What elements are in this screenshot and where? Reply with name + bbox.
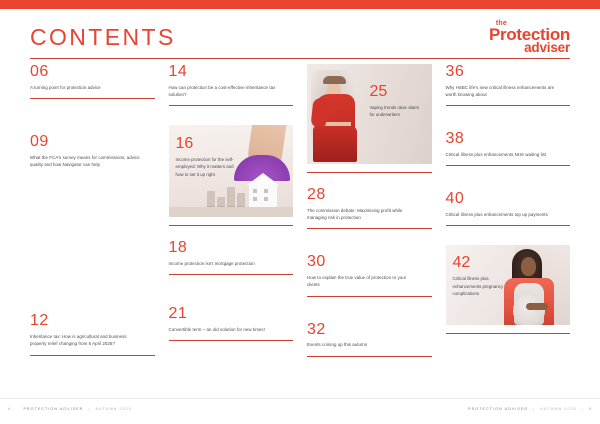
entry-divider — [446, 225, 571, 226]
entry-page-number: 38 — [446, 131, 571, 148]
entry-description: What the FCA's survey means for commissi… — [30, 154, 142, 169]
contents-entry-18[interactable]: 18 Income protection isn't mortgage prot… — [169, 240, 294, 280]
footer-right: PROTECTION ADVISER | AUTUMN 2025 | 5 — [468, 407, 592, 411]
column-spacer — [446, 231, 571, 245]
column-spacer — [446, 325, 571, 333]
contents-column-2: 14 How can protection be a cost-effectiv… — [169, 64, 294, 384]
contents-entry-06[interactable]: 06 A turning point for protection advice — [30, 64, 155, 104]
column-gap — [30, 193, 155, 313]
entry-page-number: 32 — [307, 322, 432, 339]
entry-description: Critical illness plus enhancements top u… — [446, 211, 558, 218]
column-spacer — [30, 173, 155, 193]
entry-description: Critical illness plus enhancements pregn… — [453, 275, 505, 297]
entry-divider — [446, 105, 571, 106]
column-spacer — [307, 234, 432, 254]
entry-page-number: 21 — [169, 306, 294, 323]
contents-entry-32[interactable]: 32 Events coming up this autumn — [307, 322, 432, 362]
column-spacer — [307, 302, 432, 322]
contents-entry-30[interactable]: 30 How to explain the true value of prot… — [307, 254, 432, 301]
contents-column-3: 25 Vaping trends raise alarm for underwr… — [307, 64, 432, 384]
entry-page-number: 40 — [446, 191, 571, 208]
contents-entry-12[interactable]: 12 Inheritance tax: How is agricultural … — [30, 313, 155, 360]
protection-adviser-logo: the Protection adviser — [462, 20, 570, 56]
column-spacer — [169, 226, 294, 240]
footer-page-number-left: 4 — [8, 407, 11, 411]
contents-entry-42[interactable]: 42 Critical illness plus enhancements pr… — [446, 245, 571, 325]
footer-separator: | — [85, 407, 93, 411]
contents-entry-28[interactable]: 28 The commission debate: Maximising pro… — [307, 187, 432, 234]
contents-page: CONTENTS the Protection adviser 06 A tur… — [0, 0, 600, 424]
footer-publication-title-left: PROTECTION ADVISER — [23, 407, 83, 411]
footer-separator: | — [579, 407, 587, 411]
entry-page-number: 16 — [176, 136, 242, 153]
contents-columns: 06 A turning point for protection advice… — [30, 64, 570, 384]
entry-page-number: 30 — [307, 254, 432, 271]
column-spacer — [169, 280, 294, 306]
footer-left: 4 PROTECTION ADVISER | AUTUMN 2025 — [8, 407, 132, 411]
contents-entry-16[interactable]: 16 Income protection for the self-employ… — [169, 125, 294, 217]
top-accent-bar — [0, 0, 600, 9]
footer-divider — [0, 398, 600, 399]
column-spacer — [307, 164, 432, 172]
footer-publication-title-right: PROTECTION ADVISER — [468, 407, 528, 411]
entry-divider — [446, 165, 571, 166]
entry-page-number: 12 — [30, 313, 155, 330]
footer-issue-left: AUTUMN 2025 — [95, 407, 131, 411]
entry-divider — [169, 105, 294, 106]
column-spacer — [169, 217, 294, 225]
entry-description: Income protection isn't mortgage protect… — [169, 260, 281, 267]
contents-column-1: 06 A turning point for protection advice… — [30, 64, 155, 384]
entry-divider — [307, 296, 432, 297]
contents-entry-21[interactable]: 21 Convertible term – an old solution fo… — [169, 306, 294, 346]
entry-divider — [307, 228, 432, 229]
entry-description: A turning point for protection advice — [30, 84, 142, 91]
entry-divider — [169, 340, 294, 341]
entry-page-number: 36 — [446, 64, 571, 81]
footer-issue-right: AUTUMN 2025 — [540, 407, 576, 411]
entry-divider — [30, 98, 155, 99]
entry-description: Inheritance tax: How is agricultural and… — [30, 333, 142, 348]
footer-separator — [13, 407, 21, 411]
entry-description: Income protection for the self-employed:… — [176, 156, 242, 178]
entry-overlay: 25 Vaping trends raise alarm for underwr… — [370, 84, 424, 118]
contents-entry-14[interactable]: 14 How can protection be a cost-effectiv… — [169, 64, 294, 111]
entry-description: Events coming up this autumn — [307, 341, 419, 348]
entry-description: How can protection be a cost-effective i… — [169, 84, 281, 99]
footer-separator: | — [530, 407, 538, 411]
entry-page-number: 18 — [169, 240, 294, 257]
page-footer: 4 PROTECTION ADVISER | AUTUMN 2025 PROTE… — [0, 398, 600, 424]
logo-adviser-text: adviser — [462, 41, 570, 55]
entry-divider — [169, 274, 294, 275]
title-divider — [30, 58, 570, 59]
entry-divider — [30, 355, 155, 356]
entry-page-number: 25 — [370, 84, 424, 101]
column-spacer — [30, 104, 155, 134]
entry-divider — [446, 333, 571, 334]
contents-entry-36[interactable]: 36 Why HSBC life's new critical illness … — [446, 64, 571, 111]
page-title: CONTENTS — [30, 24, 176, 51]
entry-page-number: 06 — [30, 64, 155, 81]
entry-page-number: 14 — [169, 64, 294, 81]
contents-entry-40[interactable]: 40 Critical illness plus enhancements to… — [446, 191, 571, 231]
contents-column-4: 36 Why HSBC life's new critical illness … — [446, 64, 571, 384]
entry-page-number: 28 — [307, 187, 432, 204]
entry-description: Critical illness plus enhancements NHS w… — [446, 151, 558, 158]
footer-page-number-right: 5 — [589, 407, 592, 411]
entry-description: Vaping trends raise alarm for underwrite… — [370, 104, 424, 119]
entry-overlay: 42 Critical illness plus enhancements pr… — [453, 255, 505, 297]
contents-entry-25[interactable]: 25 Vaping trends raise alarm for underwr… — [307, 64, 432, 164]
column-spacer — [446, 171, 571, 191]
column-spacer — [307, 173, 432, 187]
entry-description: Convertible term – an old solution for n… — [169, 326, 281, 333]
contents-entry-38[interactable]: 38 Critical illness plus enhancements NH… — [446, 131, 571, 171]
entry-description: Why HSBC life's new critical illness enh… — [446, 84, 558, 99]
contents-entry-09[interactable]: 09 What the FCA's survey means for commi… — [30, 134, 155, 173]
entry-page-number: 42 — [453, 255, 505, 272]
entry-page-number: 09 — [30, 134, 155, 151]
column-spacer — [169, 111, 294, 125]
column-spacer — [446, 111, 571, 131]
entry-description: The commission debate: Maximising profit… — [307, 207, 419, 222]
entry-description: How to explain the true value of protect… — [307, 274, 419, 289]
page-header: CONTENTS the Protection adviser — [30, 20, 570, 60]
entry-overlay: 16 Income protection for the self-employ… — [176, 136, 242, 178]
entry-divider — [307, 356, 432, 357]
